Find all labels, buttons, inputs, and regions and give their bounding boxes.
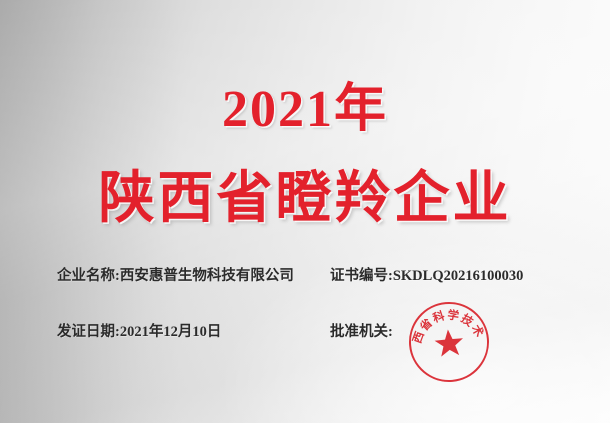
five-pointed-star-icon — [433, 327, 466, 360]
field-issue-date: 发证日期:2021年12月10日 — [57, 322, 221, 342]
field-certificate-number: 证书编号:SKDLQ20216100030 — [330, 266, 523, 286]
field-issue-date-label: 发证日期: — [57, 324, 120, 340]
field-company-name: 企业名称:西安惠普生物科技有限公司 — [57, 266, 294, 286]
certificate-title: 陕西省瞪羚企业 — [0, 171, 610, 227]
certificate-plate: 2021年 陕西省瞪羚企业 企业名称:西安惠普生物科技有限公司 证书编号:SKD… — [0, 0, 610, 423]
field-certificate-number-label: 证书编号: — [330, 268, 393, 284]
field-issue-date-value: 2021年12月10日 — [120, 324, 222, 340]
official-seal-icon: 陕西省科学技术厅 — [406, 299, 493, 386]
field-approval-authority: 批准机关: — [330, 322, 393, 342]
field-approval-authority-label: 批准机关: — [330, 324, 393, 340]
field-certificate-number-value: SKDLQ20216100030 — [393, 268, 524, 284]
certificate-year: 2021年 — [0, 84, 610, 136]
field-company-name-value: 西安惠普生物科技有限公司 — [120, 268, 294, 284]
field-company-name-label: 企业名称: — [57, 268, 120, 284]
